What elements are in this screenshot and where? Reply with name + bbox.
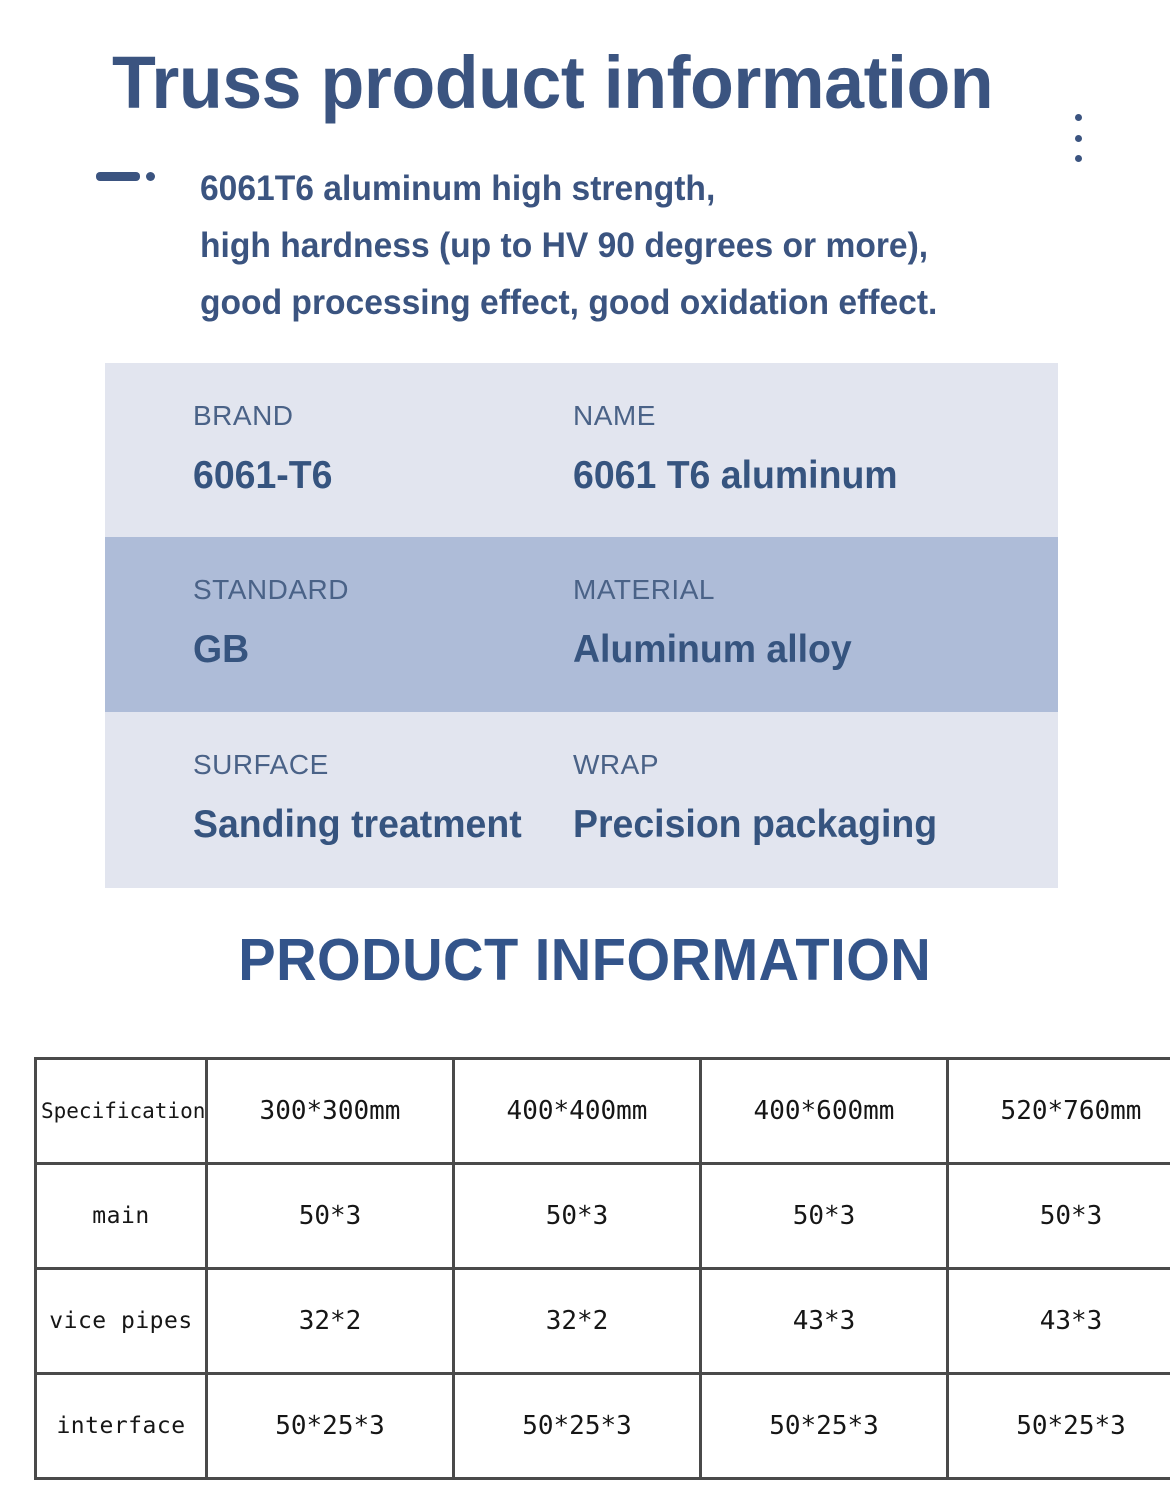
spec-label: NAME (573, 399, 993, 433)
spec-cell-material: MATERIAL Aluminum alloy (573, 573, 993, 712)
table-header-cell-specification: Specification (36, 1059, 207, 1164)
table-cell: 43*3 (701, 1269, 948, 1374)
vertical-ellipsis-icon (1072, 114, 1084, 162)
table-cell: 50*3 (701, 1164, 948, 1269)
table-header-cell: 520*760mm (948, 1059, 1170, 1164)
specification-panel: BRAND 6061-T6 NAME 6061 T6 aluminum STAN… (105, 363, 1058, 888)
spec-label: STANDARD (193, 573, 573, 607)
page-title: Truss product information (112, 40, 993, 126)
table-row: vice pipes 32*2 32*2 43*3 43*3 (36, 1269, 1170, 1374)
spec-cell-standard: STANDARD GB (193, 573, 573, 712)
spec-cell-wrap: WRAP Precision packaging (573, 748, 993, 888)
table-cell: 50*3 (454, 1164, 701, 1269)
spec-cell-surface: SURFACE Sanding treatment (193, 748, 573, 888)
table-cell: 43*3 (948, 1269, 1170, 1374)
table-cell: 50*25*3 (207, 1374, 454, 1479)
table-cell: 50*25*3 (948, 1374, 1170, 1479)
table-cell: 32*2 (454, 1269, 701, 1374)
spec-label: MATERIAL (573, 573, 993, 607)
table-row: main 50*3 50*3 50*3 50*3 (36, 1164, 1170, 1269)
table-cell: 50*3 (207, 1164, 454, 1269)
spec-cell-name: NAME 6061 T6 aluminum (573, 399, 993, 537)
spec-label: BRAND (193, 399, 573, 433)
spec-value: GB (193, 627, 558, 673)
ellipsis-dot (1075, 114, 1082, 121)
intro-text: 6061T6 aluminum high strength, high hard… (200, 160, 1064, 331)
intro-line-1: 6061T6 aluminum high strength, (200, 160, 1064, 217)
table-header-row: Specification 300*300mm 400*400mm 400*60… (36, 1059, 1170, 1164)
spec-value: 6061-T6 (193, 453, 558, 499)
table-cell: 50*25*3 (701, 1374, 948, 1479)
product-information-table: Specification 300*300mm 400*400mm 400*60… (34, 1057, 1138, 1480)
bullet-dot (146, 172, 155, 181)
table-cell: 32*2 (207, 1269, 454, 1374)
spec-row: SURFACE Sanding treatment WRAP Precision… (105, 712, 1058, 888)
ellipsis-dot (1075, 155, 1082, 162)
table-row: interface 50*25*3 50*25*3 50*25*3 50*25*… (36, 1374, 1170, 1479)
spec-cell-brand: BRAND 6061-T6 (193, 399, 573, 537)
spec-value: Aluminum alloy (573, 627, 976, 673)
table-header-cell: 400*400mm (454, 1059, 701, 1164)
spec-label: SURFACE (193, 748, 573, 782)
table-cell: 50*3 (948, 1164, 1170, 1269)
intro-line-2: high hardness (up to HV 90 degrees or mo… (200, 217, 1064, 274)
intro-line-3: good processing effect, good oxidation e… (200, 274, 1064, 331)
table-header-cell: 400*600mm (701, 1059, 948, 1164)
bullet-dash (96, 172, 140, 181)
table-row-label-vice-pipes: vice pipes (36, 1269, 207, 1374)
spec-value: Precision packaging (573, 802, 976, 848)
ellipsis-dot (1075, 135, 1082, 142)
table-header-cell: 300*300mm (207, 1059, 454, 1164)
section-heading-text: PRODUCT INFORMATION (239, 925, 932, 995)
table-row-label-main: main (36, 1164, 207, 1269)
table-cell: 50*25*3 (454, 1374, 701, 1479)
spec-value: Sanding treatment (193, 802, 558, 848)
table-row-label-interface: interface (36, 1374, 207, 1479)
spec-row: STANDARD GB MATERIAL Aluminum alloy (105, 537, 1058, 712)
section-heading: PRODUCT INFORMATION (0, 925, 1170, 995)
dash-dot-bullet-icon (96, 172, 155, 181)
page-header: Truss product information (0, 0, 1170, 150)
spec-row: BRAND 6061-T6 NAME 6061 T6 aluminum (105, 363, 1058, 537)
spec-label: WRAP (573, 748, 993, 782)
spec-value: 6061 T6 aluminum (573, 453, 976, 499)
